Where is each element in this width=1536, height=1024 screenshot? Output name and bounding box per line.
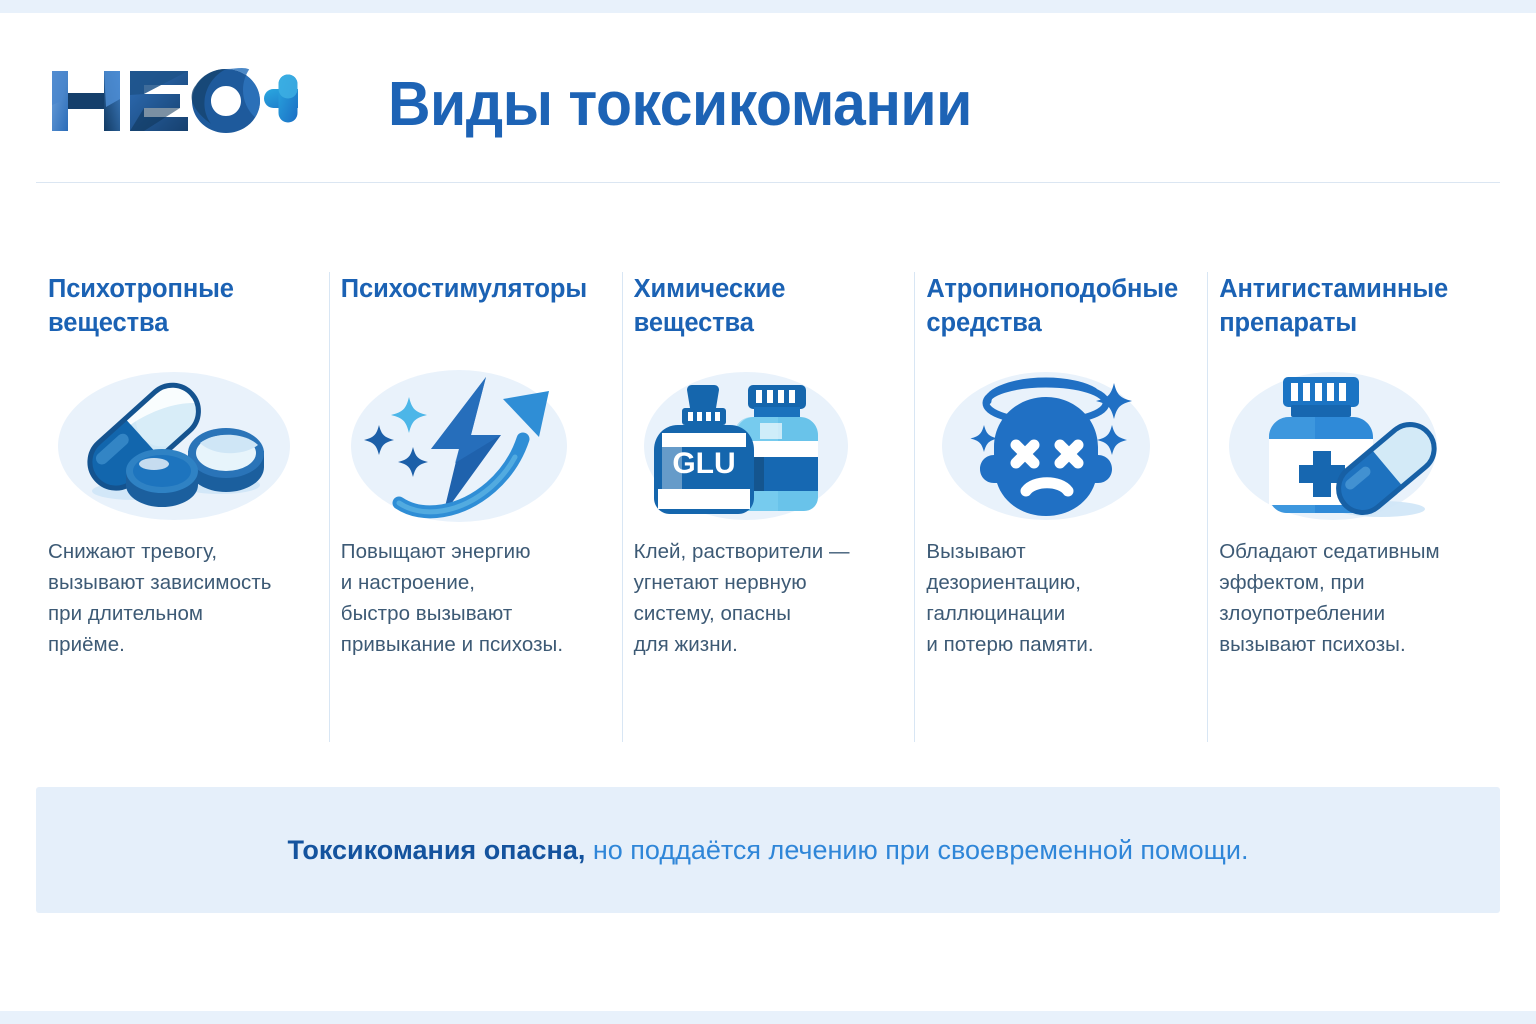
page-title: Виды токсикомании	[388, 70, 972, 140]
column-description: Клей, растворители — угнетают нервную си…	[634, 536, 897, 660]
column-description: Повыщают энергию и настроение, быстро вы…	[341, 536, 604, 660]
neo-plus-logo	[48, 65, 298, 137]
column-title: Психотропные вещества	[48, 272, 311, 340]
category-column-stimulants: Психостимуляторы Повыщают энер	[329, 272, 622, 742]
medicine-bottle-capsule-icon	[1219, 356, 1482, 536]
dizzy-head-icon	[926, 356, 1189, 536]
pills-capsule-icon	[48, 356, 311, 536]
column-title: Психостимуляторы	[341, 272, 604, 340]
category-column-chemicals: Химические вещества	[622, 272, 915, 742]
column-title: Атропиноподобные средства	[926, 272, 1189, 340]
column-description: Обладают седативным эффектом, при злоупо…	[1219, 536, 1482, 660]
lightning-bolt-arrow-icon	[341, 356, 604, 536]
bottom-accent-band	[0, 1011, 1536, 1024]
banner-strong-text: Токсикомания опасна,	[288, 835, 586, 865]
column-title: Химические вещества	[634, 272, 897, 340]
header: Виды токсикомании	[0, 13, 1536, 193]
top-accent-band	[0, 0, 1536, 13]
infographic-page: Виды токсикомании Психотропные вещества	[0, 0, 1536, 1024]
category-columns: Психотропные вещества	[36, 272, 1500, 742]
header-divider	[36, 182, 1500, 183]
category-column-antihistamines: Антигистаминные препараты	[1207, 272, 1500, 742]
glue-solvent-bottles-icon: GLU	[634, 356, 897, 536]
category-column-psychotropic: Психотропные вещества	[36, 272, 329, 742]
footer-banner: Токсикомания опасна, но поддаётся лечени…	[36, 787, 1500, 913]
column-description: Снижают тревогу, вызывают зависимость пр…	[48, 536, 311, 660]
column-title: Антигистаминные препараты	[1219, 272, 1482, 340]
column-description: Вызывают дезориентацию, галлюцинации и п…	[926, 536, 1189, 660]
banner-rest-text: но поддаётся лечению при своевременной п…	[585, 835, 1248, 865]
banner-text: Токсикомания опасна, но поддаётся лечени…	[288, 835, 1249, 866]
category-column-atropine: Атропиноподобные средства	[914, 272, 1207, 742]
